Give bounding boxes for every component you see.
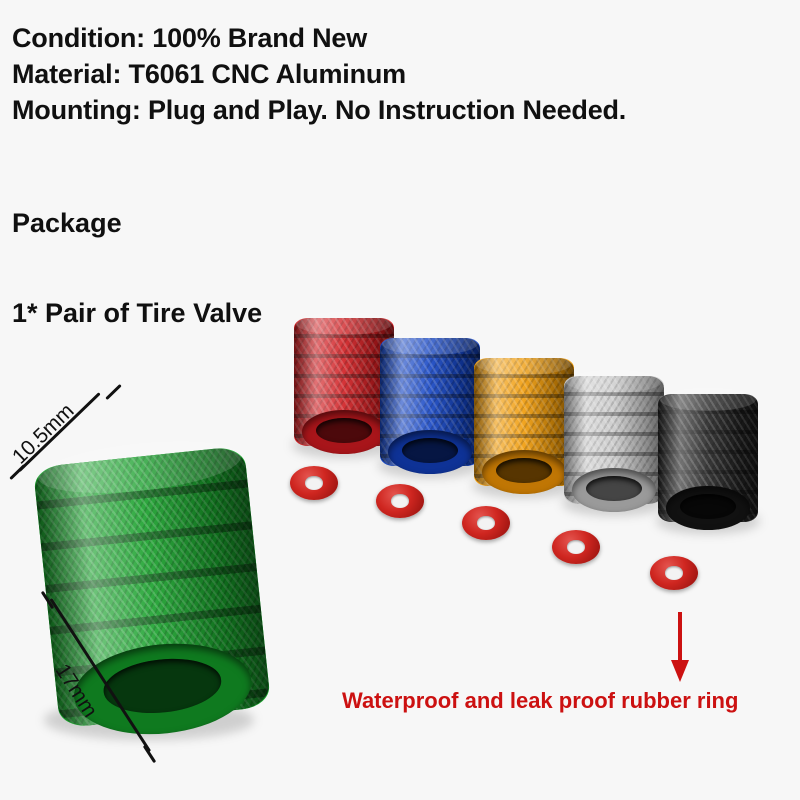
orange-cap <box>474 358 574 486</box>
rubber-washer <box>650 556 698 590</box>
spec-list: Condition: 100% Brand New Material: T606… <box>12 20 792 128</box>
blue-cap <box>380 338 480 466</box>
red-cap <box>294 318 394 446</box>
rubber-washer <box>462 506 510 540</box>
cap-top <box>296 312 392 335</box>
silver-cap <box>564 376 664 504</box>
cap-top <box>566 370 662 393</box>
washer-caption: Waterproof and leak proof rubber ring <box>342 688 738 714</box>
cap-top <box>382 332 478 355</box>
rubber-washer <box>290 466 338 500</box>
diameter-tick-end <box>105 384 121 400</box>
cap-top <box>476 352 572 375</box>
arrow-icon <box>668 612 692 684</box>
cap-top <box>660 388 756 411</box>
rubber-washer <box>552 530 600 564</box>
rubber-washer <box>376 484 424 518</box>
product-image: Condition: 100% Brand New Material: T606… <box>0 0 800 800</box>
spec-line-mounting: Mounting: Plug and Play. No Instruction … <box>12 92 792 128</box>
spec-line-condition: Condition: 100% Brand New <box>12 20 792 56</box>
package-contents: 1* Pair of Tire Valve <box>12 298 262 329</box>
spec-line-material: Material: T6061 CNC Aluminum <box>12 56 792 92</box>
black-cap <box>658 394 758 522</box>
package-heading: Package <box>12 208 122 239</box>
